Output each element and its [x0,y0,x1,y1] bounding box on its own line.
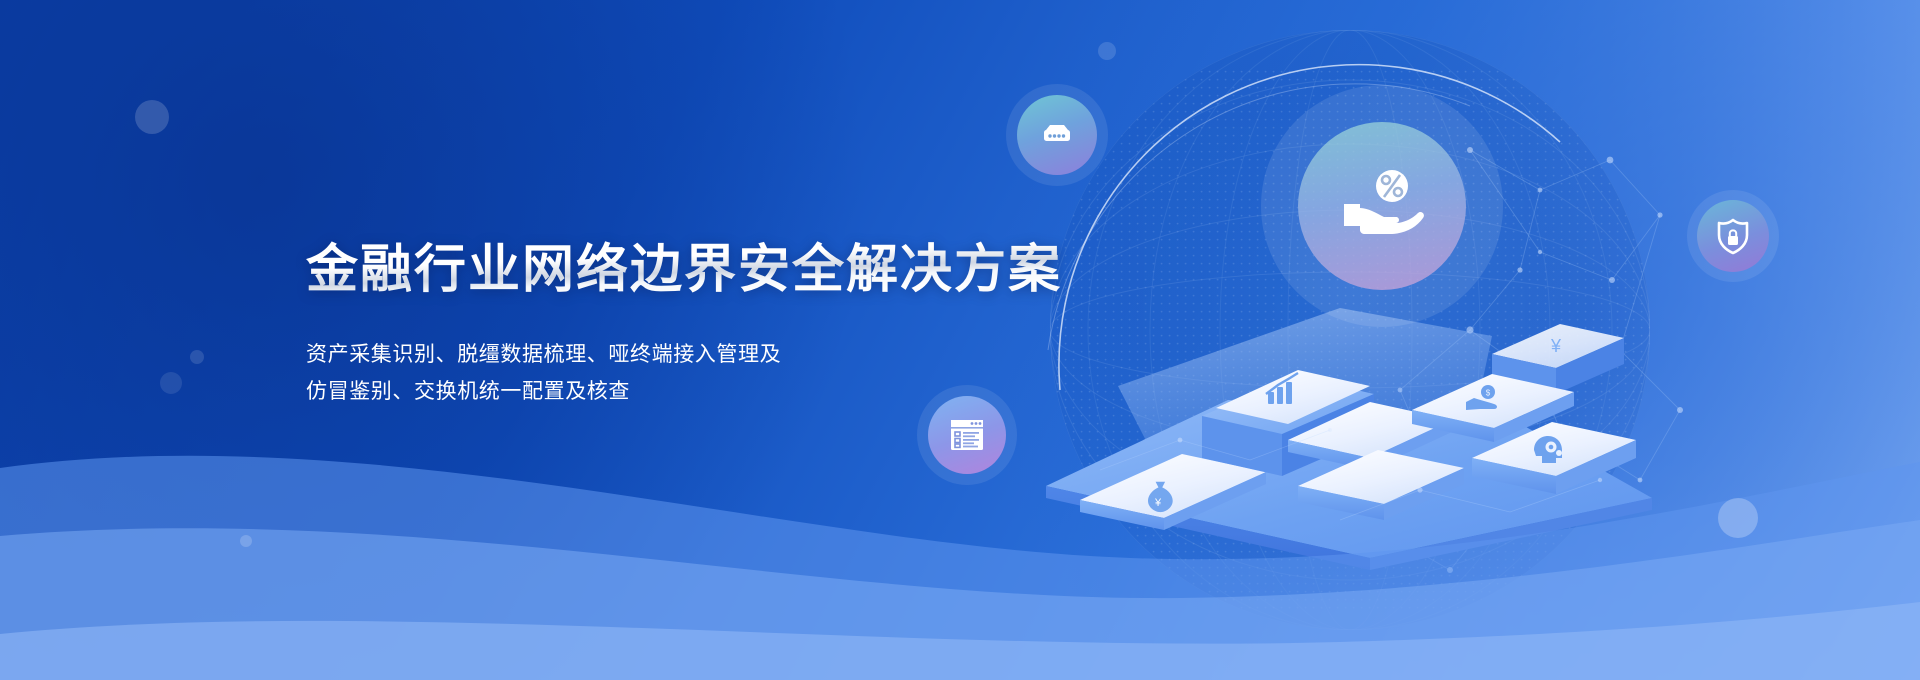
decor-bubble [1718,498,1758,538]
decor-bubble [160,372,182,394]
subtitle-line-1: 资产采集识别、脱缰数据梳理、哑终端接入管理及 [306,336,826,373]
hand-percent-icon [1334,158,1430,254]
network-switch-icon [1037,115,1077,155]
hero-banner: ¥ [0,0,1920,680]
svg-text:$: $ [1486,389,1491,398]
isometric-platform-illustration: ¥ [1040,290,1660,570]
decor-bubble [1098,42,1116,60]
network-switch-badge[interactable] [1017,95,1097,175]
svg-text:¥: ¥ [1550,336,1562,356]
svg-text:¥: ¥ [1154,497,1162,509]
document-list-icon [946,414,988,456]
hero-copy: 金融行业网络边界安全解决方案 资产采集识别、脱缰数据梳理、哑终端接入管理及 仿冒… [306,238,1086,410]
page-subtitle: 资产采集识别、脱缰数据梳理、哑终端接入管理及 仿冒鉴别、交换机统一配置及核查 [306,336,826,410]
background-tint-right [980,0,1920,680]
shield-lock-icon [1714,217,1752,255]
hand-percent-badge[interactable] [1298,122,1466,290]
decor-bubble [135,100,169,134]
decor-bubble [190,350,204,364]
decor-bubble [240,535,252,547]
page-title: 金融行业网络边界安全解决方案 [306,238,1086,302]
subtitle-line-2: 仿冒鉴别、交换机统一配置及核查 [306,373,826,410]
shield-lock-badge[interactable] [1697,200,1769,272]
